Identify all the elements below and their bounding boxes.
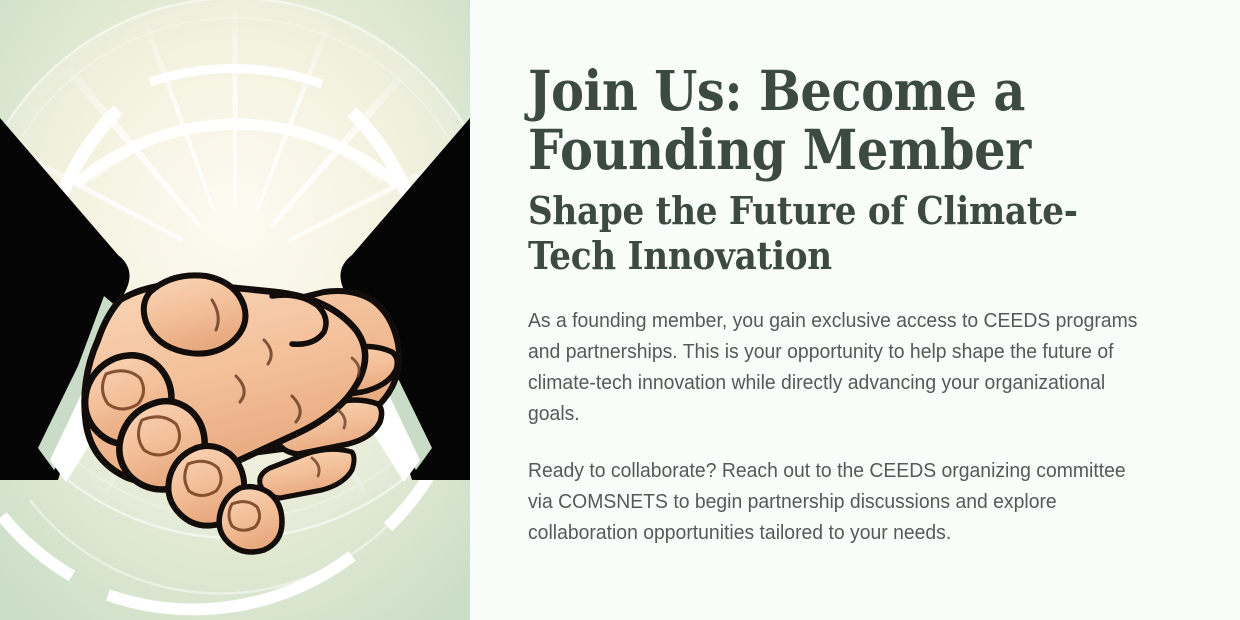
page-subtitle: Shape the Future of Climate-Tech Innovat…	[528, 188, 1122, 279]
body-copy: As a founding member, you gain exclusive…	[528, 305, 1188, 548]
handshake-illustration	[0, 0, 470, 620]
content-panel: Join Us: Become a Founding Member Shape …	[470, 0, 1240, 620]
slide-root: Join Us: Become a Founding Member Shape …	[0, 0, 1240, 620]
paragraph-contact: Ready to collaborate? Reach out to the C…	[528, 455, 1152, 548]
page-title: Join Us: Become a Founding Member	[528, 62, 1104, 180]
left-thumb	[144, 275, 246, 353]
paragraph-benefits: As a founding member, you gain exclusive…	[528, 305, 1152, 430]
